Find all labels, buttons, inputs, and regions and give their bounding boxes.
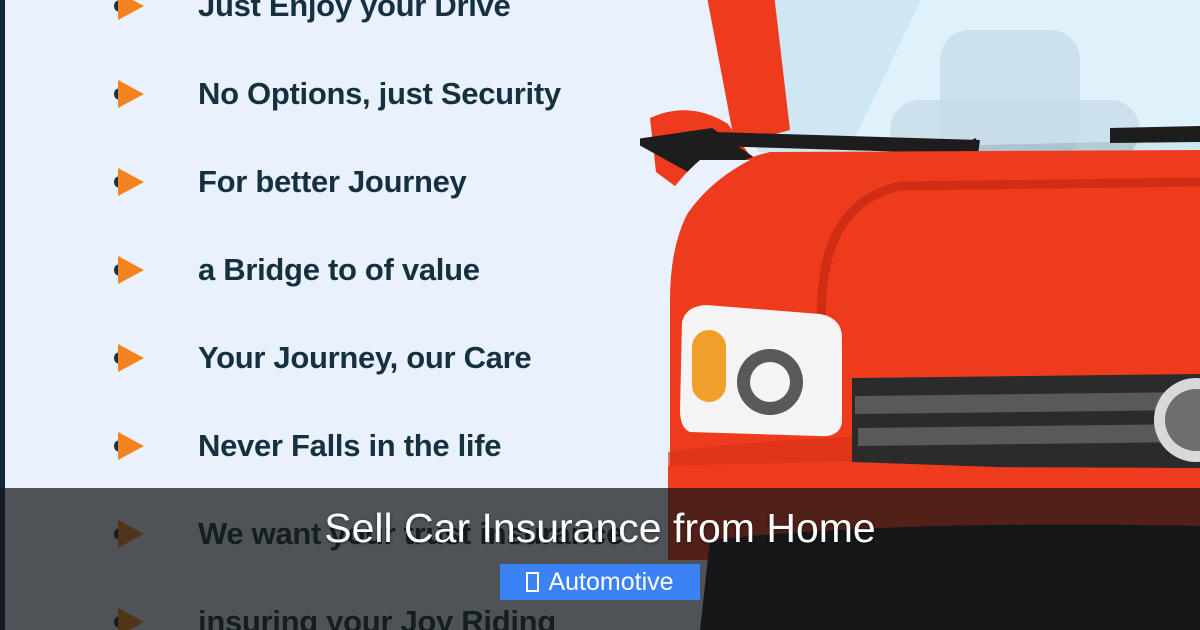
arrow-bullet-icon — [112, 253, 160, 287]
list-item: a Bridge to of value — [0, 226, 700, 314]
missing-glyph-icon — [526, 572, 539, 592]
list-item: Your Journey, our Care — [0, 314, 700, 402]
arrow-bullet-icon — [112, 77, 160, 111]
list-item: For better Journey — [0, 138, 700, 226]
headlight-lamp-lens — [750, 362, 790, 402]
grille — [852, 374, 1200, 474]
wiper-right — [1110, 126, 1200, 143]
list-item: Never Falls in the life — [0, 402, 700, 490]
list-item-label: Just Enjoy your Drive — [198, 0, 510, 24]
page-title: Sell Car Insurance from Home — [0, 505, 1200, 552]
list-item-label: Never Falls in the life — [198, 428, 501, 464]
list-item-label: No Options, just Security — [198, 76, 561, 112]
headlight — [680, 305, 842, 436]
arrow-bullet-icon — [112, 165, 160, 199]
list-item: Just Enjoy your Drive — [0, 0, 700, 50]
list-item-label: For better Journey — [198, 164, 466, 200]
grille-base — [852, 374, 1200, 474]
category-badge-label: Automotive — [548, 570, 673, 595]
arrow-bullet-icon — [112, 0, 160, 23]
list-item-label: Your Journey, our Care — [198, 340, 531, 376]
poster-screenshot: Just Enjoy your Drive No Options, just S… — [0, 0, 1200, 630]
list-item-label: a Bridge to of value — [198, 252, 480, 288]
category-badge[interactable]: Automotive — [500, 564, 700, 600]
arrow-bullet-icon — [112, 341, 160, 375]
arrow-bullet-icon — [112, 429, 160, 463]
list-item: No Options, just Security — [0, 50, 700, 138]
